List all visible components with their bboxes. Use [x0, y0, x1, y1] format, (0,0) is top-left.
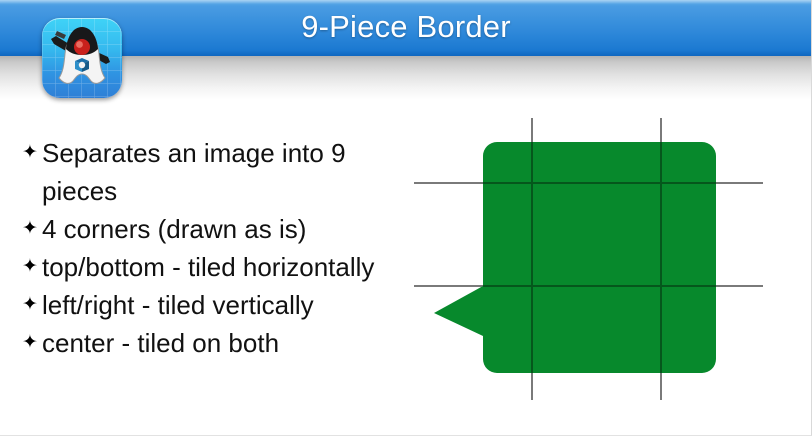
- list-item: ✦ 4 corners (drawn as is): [22, 210, 442, 248]
- bullet-star-icon: ✦: [22, 134, 42, 172]
- list-item-label: center - tiled on both: [42, 324, 279, 362]
- speech-bubble-shape: [434, 142, 716, 373]
- list-item-label: 4 corners (drawn as is): [42, 210, 306, 248]
- javafx-duke-icon: [42, 18, 122, 98]
- list-item: ✦ left/right - tiled vertically: [22, 286, 442, 324]
- list-item: ✦ top/bottom - tiled horizontally: [22, 248, 442, 286]
- list-item-label: left/right - tiled vertically: [42, 286, 314, 324]
- list-item-continuation: pieces: [22, 172, 442, 210]
- slide-canvas: 9-Piece Border ✦ Separates an ima: [0, 0, 812, 436]
- nine-piece-border-illustration: [400, 100, 800, 420]
- list-item: ✦ Separates an image into 9: [22, 134, 442, 172]
- list-item-label: Separates an image into 9: [42, 134, 346, 172]
- list-item-label: top/bottom - tiled horizontally: [42, 248, 374, 286]
- bullet-star-icon: ✦: [22, 286, 42, 324]
- bullet-list: ✦ Separates an image into 9 pieces ✦ 4 c…: [22, 134, 442, 362]
- duke-mascot-glyph: [42, 18, 122, 98]
- bullet-star-icon: ✦: [22, 324, 42, 362]
- bullet-star-icon: ✦: [22, 248, 42, 286]
- list-item: ✦ center - tiled on both: [22, 324, 442, 362]
- bullet-star-icon: ✦: [22, 210, 42, 248]
